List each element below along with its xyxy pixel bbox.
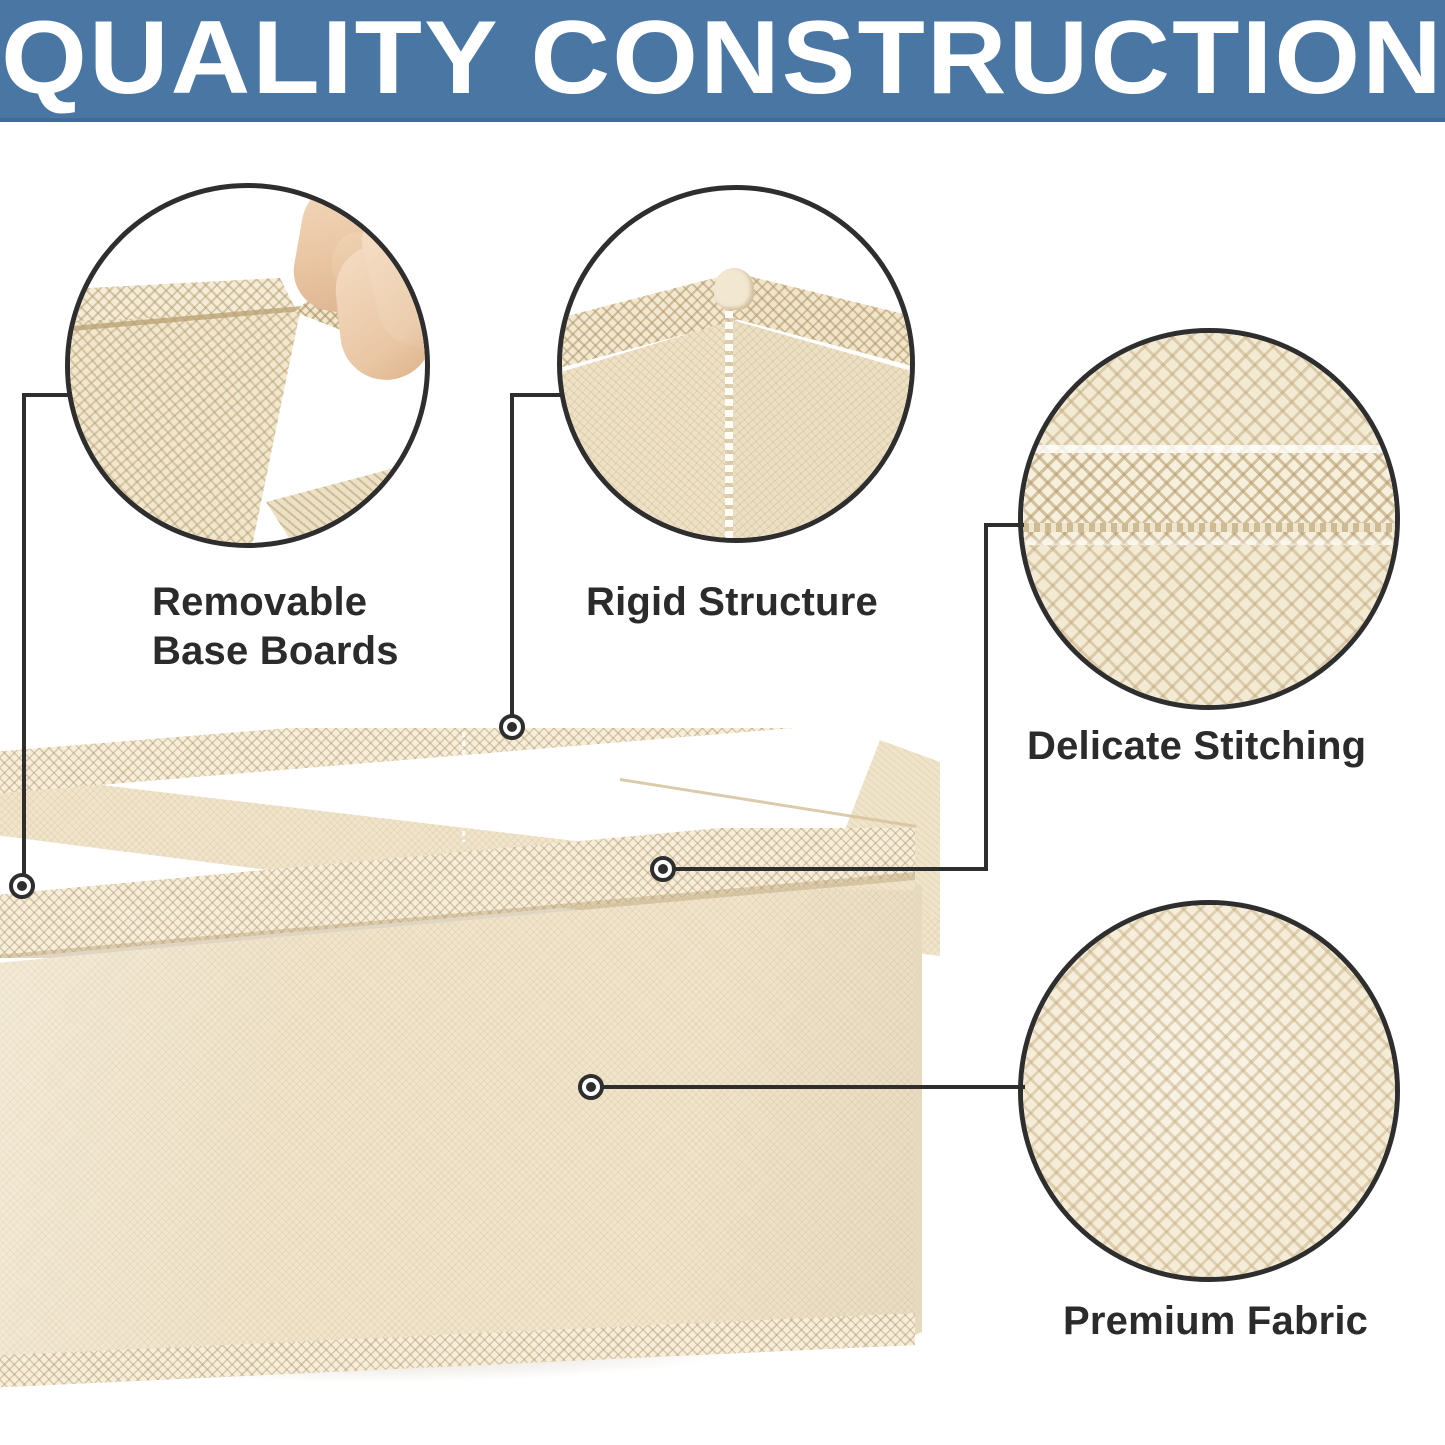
callout-label-delicate-stitching: Delicate Stitching	[1027, 722, 1366, 771]
connector-1-segment-horizontal-top	[22, 393, 70, 397]
marker-dot-premium-fabric	[578, 1074, 604, 1100]
connector-3-segment-vertical	[984, 523, 988, 871]
callout-label-rigid-structure: Rigid Structure	[586, 578, 878, 627]
callout-circle-rigid-structure	[557, 185, 915, 543]
header-banner: QUALITY CONSTRUCTION	[0, 0, 1445, 122]
corner-top-knot	[714, 268, 754, 310]
connector-1-segment-vertical	[22, 393, 26, 886]
infographic-page: QUALITY CONSTRUCTION Removable Base Boar…	[0, 0, 1445, 1445]
callout-label-premium-fabric: Premium Fabric	[1063, 1297, 1368, 1346]
marker-dot-removable-base-boards	[9, 873, 35, 899]
product-storage-bin	[0, 700, 950, 1400]
connector-2-segment-vertical	[510, 393, 514, 727]
premium-fabric-field	[1023, 905, 1395, 1277]
connector-2-segment-horizontal-top	[510, 393, 562, 397]
callout-circle-delicate-stitching	[1018, 328, 1400, 710]
callout-circle-removable-base-boards	[65, 183, 430, 548]
connector-4-segment-horizontal	[600, 1085, 1025, 1089]
page-title: QUALITY CONSTRUCTION	[0, 0, 1445, 122]
bin-inner-vertical-seam	[462, 714, 465, 842]
callout-circle-premium-fabric	[1018, 900, 1400, 1282]
connector-3-segment-horizontal-bottom	[672, 867, 988, 871]
marker-dot-rigid-structure	[499, 714, 525, 740]
marker-dot-delicate-stitching	[650, 856, 676, 882]
callout-label-removable-base-boards: Removable Base Boards	[152, 578, 399, 676]
stitching-seam-thread	[1023, 523, 1395, 532]
connector-3-segment-horizontal-top	[984, 523, 1024, 527]
corner-vertical-stitching	[725, 300, 733, 540]
banner-underline	[0, 118, 1445, 122]
